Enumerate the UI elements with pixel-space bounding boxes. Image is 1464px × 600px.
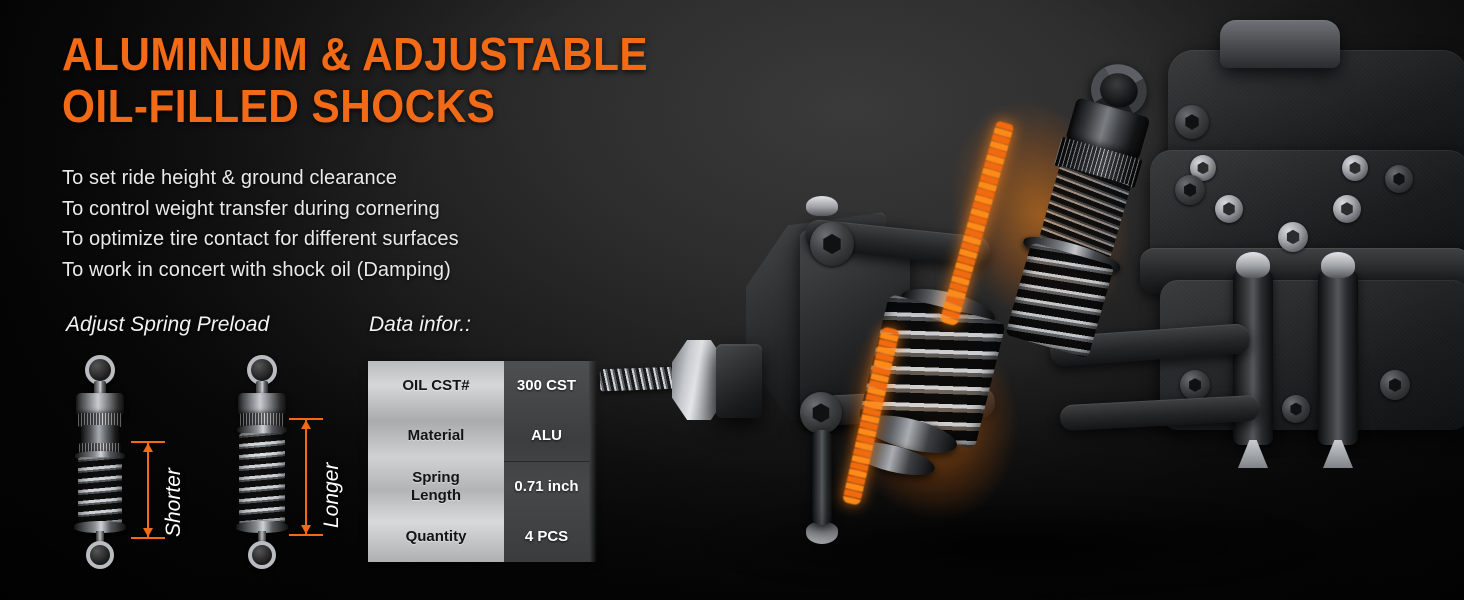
dimension-arrow-up: [301, 420, 311, 429]
spec-key: OIL CST#: [368, 361, 504, 411]
spec-table-keys: OIL CST# Material Spring Length Quantity: [368, 361, 504, 562]
headline-line-2: OIL-FILLED SHOCKS: [62, 80, 648, 132]
shock-spring: [239, 433, 285, 525]
shock-cap: [238, 393, 286, 415]
spec-value: 4 PCS: [504, 512, 589, 562]
shock-illustration-longer: [222, 355, 302, 570]
headline-line-1: ALUMINIUM & ADJUSTABLE: [62, 28, 648, 80]
spec-key: Spring Length: [368, 462, 504, 512]
spec-key: Material: [368, 411, 504, 461]
feature-list: To set ride height & ground clearance To…: [62, 163, 459, 285]
spec-value: 0.71 inch: [504, 462, 589, 512]
shock-spring: [78, 457, 122, 525]
feature-item: To control weight transfer during corner…: [62, 194, 459, 225]
dimension-arrow-down: [143, 528, 153, 537]
promo-banner: ALUMINIUM & ADJUSTABLE OIL-FILLED SHOCKS…: [0, 0, 1464, 600]
dimension-label-shorter: Shorter: [162, 468, 186, 537]
data-section-caption: Data infor.:: [369, 313, 471, 337]
dimension-tick-bottom: [289, 534, 323, 536]
spec-value: ALU: [504, 411, 589, 462]
shock-cap: [76, 393, 124, 415]
dimension-tick-bottom: [131, 537, 165, 539]
shock-eyelet-bottom: [248, 541, 276, 569]
dimension-arrow-up: [143, 443, 153, 452]
preload-section-caption: Adjust Spring Preload: [66, 313, 269, 337]
feature-item: To optimize tire contact for different s…: [62, 224, 459, 255]
feature-item: To set ride height & ground clearance: [62, 163, 459, 194]
shock-illustration-shorter: [60, 355, 140, 570]
dimension-label-longer: Longer: [320, 463, 344, 528]
page-title: ALUMINIUM & ADJUSTABLE OIL-FILLED SHOCKS: [62, 28, 648, 132]
spec-table-edge: [589, 361, 597, 562]
spec-key: Quantity: [368, 512, 504, 562]
dimension-line: [147, 441, 149, 539]
spec-table-values: 300 CST ALU 0.71 inch 4 PCS: [504, 361, 589, 562]
dimension-line: [305, 418, 307, 536]
spec-table: OIL CST# Material Spring Length Quantity…: [368, 361, 589, 562]
feature-item: To work in concert with shock oil (Dampi…: [62, 255, 459, 286]
dimension-arrow-down: [301, 525, 311, 534]
shock-eyelet-bottom: [86, 541, 114, 569]
spec-value: 300 CST: [504, 361, 589, 411]
